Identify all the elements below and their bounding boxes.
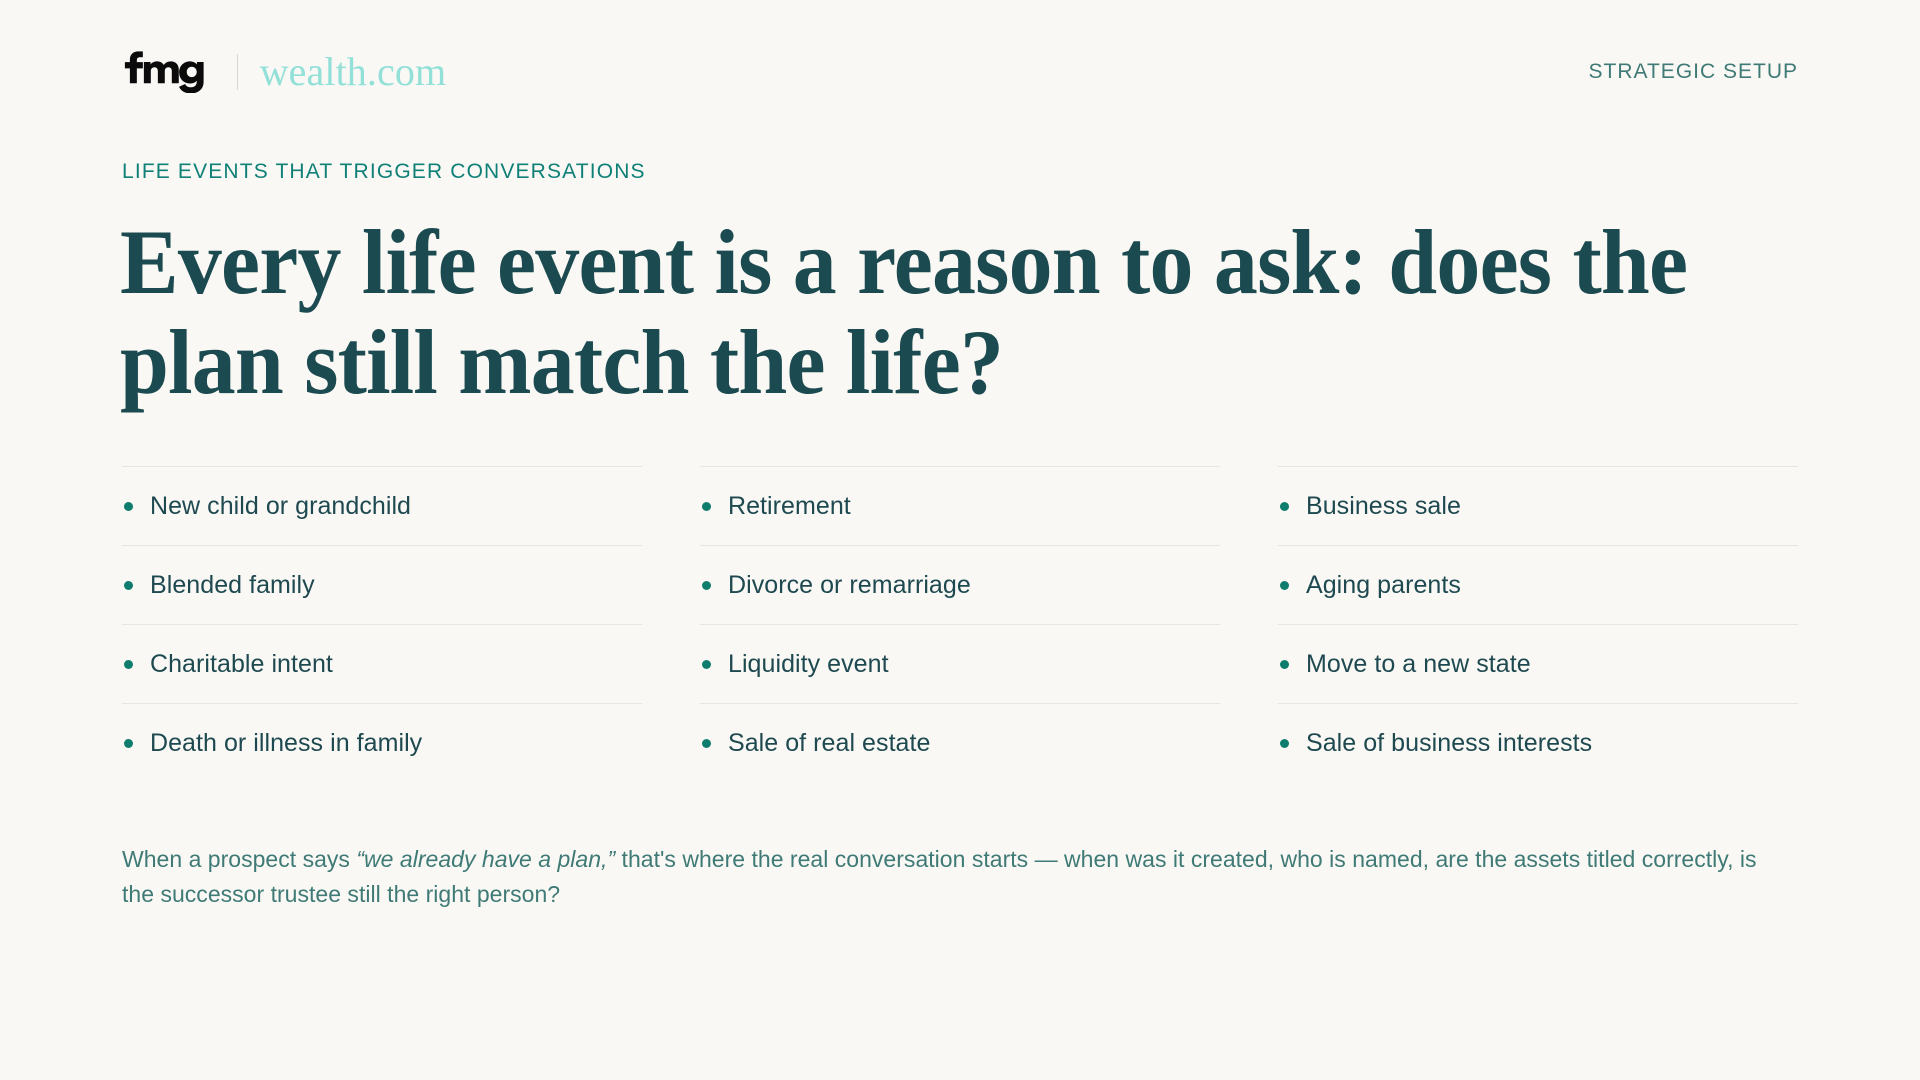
list-item-label: Sale of real estate (728, 729, 930, 758)
list-item: Sale of real estate (700, 703, 1220, 782)
bullet-icon (702, 739, 711, 748)
bullet-icon (702, 660, 711, 669)
list-item: Retirement (700, 466, 1220, 545)
bullet-icon (1280, 739, 1289, 748)
bullet-icon (1280, 502, 1289, 511)
list-item-label: Retirement (728, 492, 851, 521)
section-tag: STRATEGIC SETUP (1589, 60, 1798, 84)
list-item-label: Charitable intent (150, 650, 333, 679)
list-item-label: Death or illness in family (150, 729, 422, 758)
list-item: Liquidity event (700, 624, 1220, 703)
list-item: Aging parents (1278, 545, 1798, 624)
life-events-column-1: New child or grandchild Blended family C… (122, 466, 642, 782)
list-item-label: New child or grandchild (150, 492, 411, 521)
footnote-lead: When a prospect says (122, 846, 356, 872)
bullet-icon (702, 581, 711, 590)
list-item: Business sale (1278, 466, 1798, 545)
list-item-label: Divorce or remarriage (728, 571, 971, 600)
bullet-icon (124, 739, 133, 748)
brand-divider (237, 54, 238, 90)
list-item-label: Liquidity event (728, 650, 889, 679)
list-item-label: Sale of business interests (1306, 729, 1592, 758)
slide-header: wealth.com STRATEGIC SETUP (122, 42, 1798, 102)
list-item: Blended family (122, 545, 642, 624)
life-events-columns: New child or grandchild Blended family C… (122, 466, 1798, 782)
list-item-label: Business sale (1306, 492, 1461, 521)
page-title: Every life event is a reason to ask: doe… (120, 212, 1744, 413)
bullet-icon (124, 660, 133, 669)
list-item-label: Aging parents (1306, 571, 1461, 600)
life-events-column-3: Business sale Aging parents Move to a ne… (1278, 466, 1798, 782)
fmg-logo-icon (122, 51, 215, 93)
life-events-column-2: Retirement Divorce or remarriage Liquidi… (700, 466, 1220, 782)
eyebrow-label: LIFE EVENTS THAT TRIGGER CONVERSATIONS (122, 160, 646, 184)
list-item: New child or grandchild (122, 466, 642, 545)
list-item: Move to a new state (1278, 624, 1798, 703)
bullet-icon (124, 581, 133, 590)
bullet-icon (702, 502, 711, 511)
list-item-label: Move to a new state (1306, 650, 1531, 679)
partner-brand-wordmark: wealth.com (260, 52, 447, 92)
bullet-icon (1280, 660, 1289, 669)
list-item: Sale of business interests (1278, 703, 1798, 782)
list-item: Divorce or remarriage (700, 545, 1220, 624)
list-item: Death or illness in family (122, 703, 642, 782)
slide-root: wealth.com STRATEGIC SETUP LIFE EVENTS T… (0, 0, 1920, 1080)
list-item-label: Blended family (150, 571, 315, 600)
list-item: Charitable intent (122, 624, 642, 703)
bullet-icon (1280, 581, 1289, 590)
footnote-quote: “we already have a plan,” (356, 846, 615, 872)
footnote: When a prospect says “we already have a … (122, 842, 1782, 912)
bullet-icon (124, 502, 133, 511)
brand-lockup: wealth.com (122, 51, 446, 93)
